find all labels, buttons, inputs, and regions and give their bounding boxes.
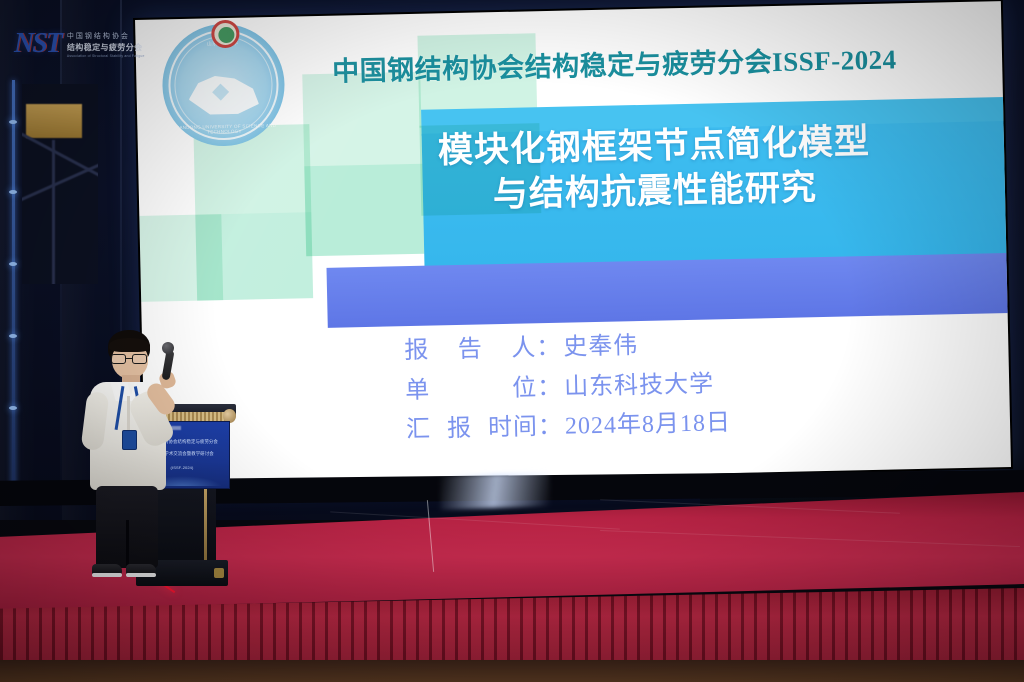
speaker-fringe xyxy=(109,338,150,352)
meta-colon: ： xyxy=(536,329,562,369)
association-logo-icon: NST xyxy=(14,28,61,60)
meta-label-affiliation: 单 位 xyxy=(405,369,538,411)
university-emblem: 山东科技大学 SHANDONG UNIVERSITY OF SCIENCE AN… xyxy=(161,23,286,148)
meta-label-presenter: 报 告 人 xyxy=(404,329,537,371)
meta-value-affiliation: 山东科技大学 xyxy=(564,365,715,408)
podium-gold-stripe xyxy=(204,489,207,563)
led-dot-icon xyxy=(9,406,17,410)
glasses-icon xyxy=(111,354,149,364)
glasses-lens xyxy=(111,354,126,364)
shoe-sole xyxy=(126,573,156,577)
meta-char: 人 xyxy=(511,329,537,369)
backstage-warm-panel xyxy=(26,104,82,138)
meta-colon: ： xyxy=(537,368,563,408)
slide-title: 模块化钢框架节点简化模型 与结构抗震性能研究 xyxy=(324,117,986,221)
screen-reflection xyxy=(439,472,550,510)
watermark-line-2: 结构稳定与疲劳分会 xyxy=(67,42,145,53)
conference-stage-photo: 山东科技大学 SHANDONG UNIVERSITY OF SCIENCE AN… xyxy=(0,0,1024,682)
slide-meta-block: 报 告 人 ： 史奉伟 单 位 ： 山东科技大学 xyxy=(404,321,926,451)
scaffold-bar xyxy=(52,140,55,284)
meta-value-date: 2024年8月18日 xyxy=(565,404,732,447)
meta-char xyxy=(471,370,472,410)
led-dot-icon xyxy=(9,334,17,338)
glasses-lens xyxy=(132,354,147,364)
meta-char: 报 xyxy=(404,332,430,372)
shoe-sole xyxy=(92,573,122,577)
meta-char: 报 xyxy=(447,410,473,450)
led-string-light xyxy=(12,80,15,500)
projection-screen: 山东科技大学 SHANDONG UNIVERSITY OF SCIENCE AN… xyxy=(133,0,1013,488)
decorative-square xyxy=(195,212,313,301)
meta-char: 汇 xyxy=(406,411,432,451)
meta-char: 告 xyxy=(457,330,483,370)
led-dot-icon xyxy=(9,262,17,266)
microphone-head-icon xyxy=(162,342,174,354)
watermark-line-1: 中国钢结构协会 xyxy=(67,31,145,41)
backstage-gap xyxy=(22,84,98,284)
trouser-split xyxy=(126,520,129,568)
meta-char: 位 xyxy=(512,369,538,409)
watermark-line-3: Association of Structural Stability and … xyxy=(67,54,145,58)
watermark: NST 中国钢结构协会 结构稳定与疲劳分会 Association of Str… xyxy=(14,24,174,64)
meta-colon: ： xyxy=(538,408,564,448)
led-dot-icon xyxy=(9,190,17,194)
podium-base-foot xyxy=(214,568,224,578)
speaker-person xyxy=(80,330,190,580)
meta-char: 时间 xyxy=(488,408,539,449)
led-dot-icon xyxy=(9,120,17,124)
emblem-badge-inner-icon xyxy=(218,27,234,43)
meta-value-presenter: 史奉伟 xyxy=(563,327,639,368)
meta-label-date: 汇 报 时间 xyxy=(406,408,539,450)
floor-foreground xyxy=(0,660,1024,682)
presentation-slide: 山东科技大学 SHANDONG UNIVERSITY OF SCIENCE AN… xyxy=(135,1,1011,486)
meta-char: 单 xyxy=(405,371,431,411)
conference-badge xyxy=(122,430,137,450)
